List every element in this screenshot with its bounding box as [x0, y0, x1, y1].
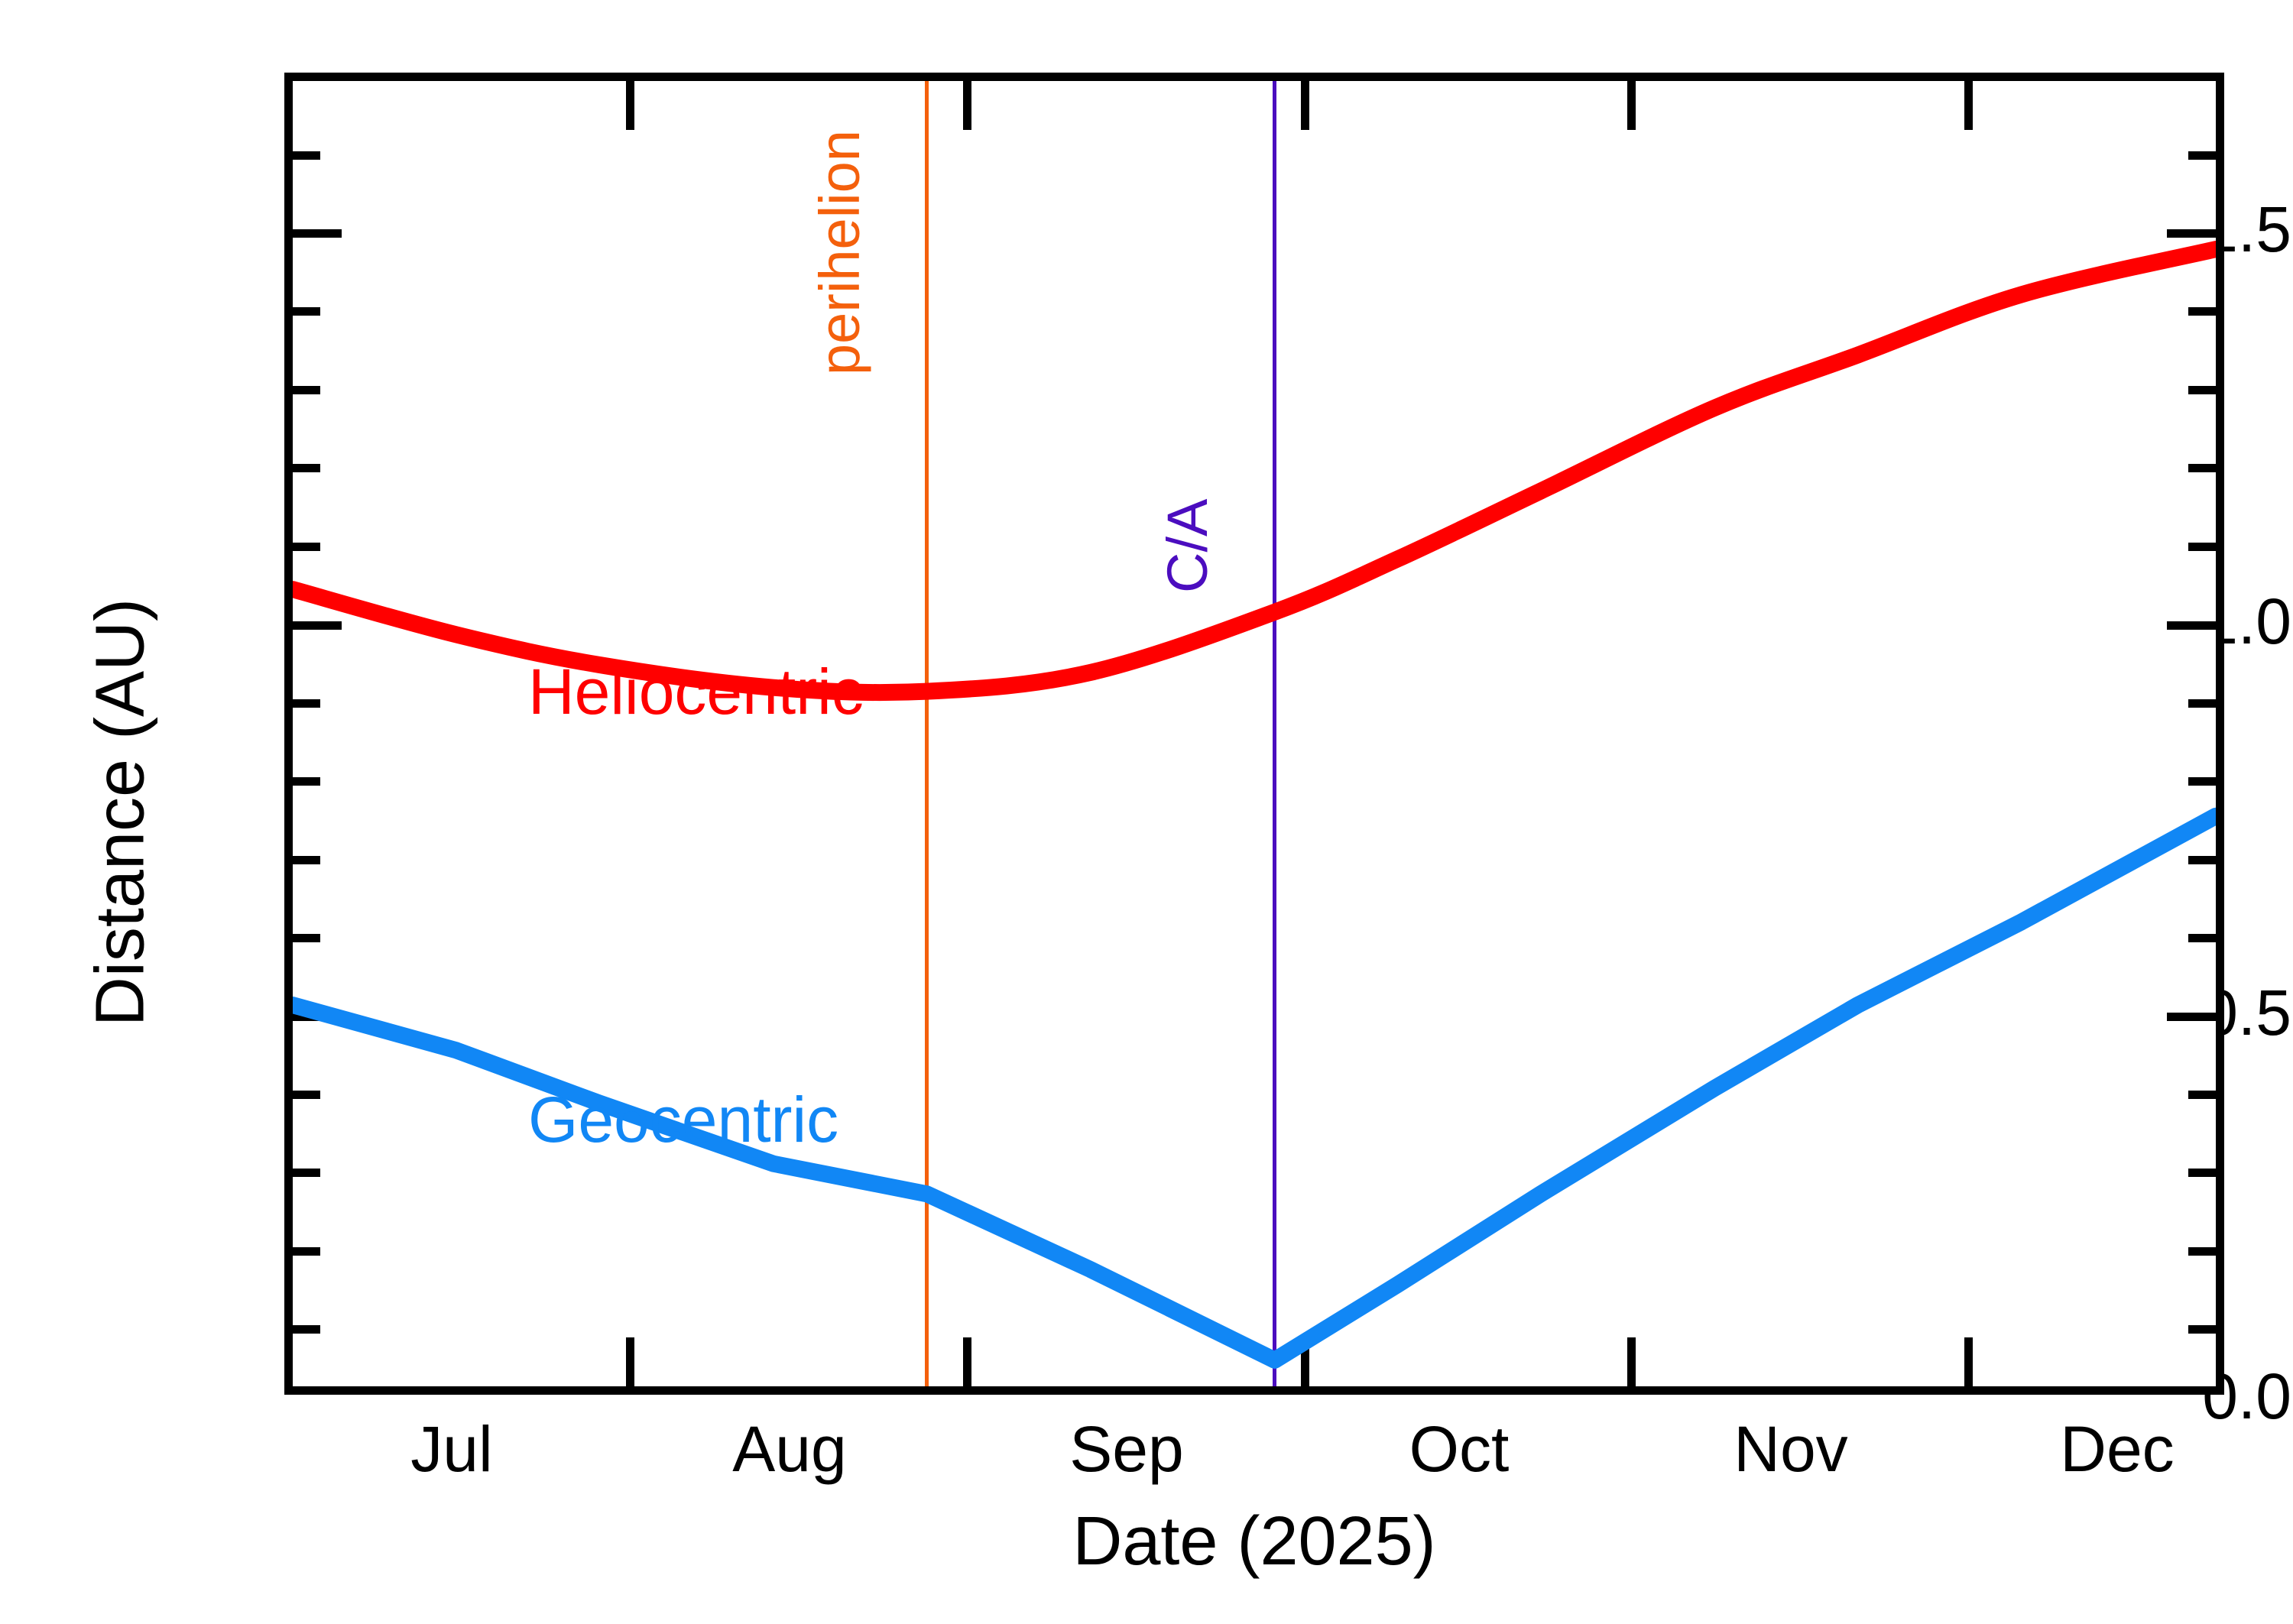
x-tick-label-jul: Jul — [410, 1412, 492, 1486]
x-tick-label-dec: Dec — [2060, 1412, 2174, 1486]
x-tick-label-oct: Oct — [1409, 1412, 1510, 1486]
x-tick-label-aug: Aug — [732, 1412, 846, 1486]
x-axis-title: Date (2025) — [284, 1502, 2224, 1581]
plot-inner: perihelion C/A Heliocentric Geocentric — [293, 81, 2216, 1386]
y-axis-title: Distance (AU) — [82, 468, 161, 1156]
heliocentric-curve — [293, 249, 2216, 692]
x-tick-label-nov: Nov — [1734, 1412, 1847, 1486]
heliocentric-label: Heliocentric — [528, 655, 864, 729]
data-curves — [293, 81, 2216, 1386]
plot-area: perihelion C/A Heliocentric Geocentric — [284, 73, 2224, 1395]
x-tick-label-sep: Sep — [1069, 1412, 1183, 1486]
geocentric-label: Geocentric — [528, 1083, 838, 1157]
chart-canvas: Distance (AU) 1.5 1.0 0.5 0.0 Jul Aug Se… — [0, 0, 2293, 1624]
